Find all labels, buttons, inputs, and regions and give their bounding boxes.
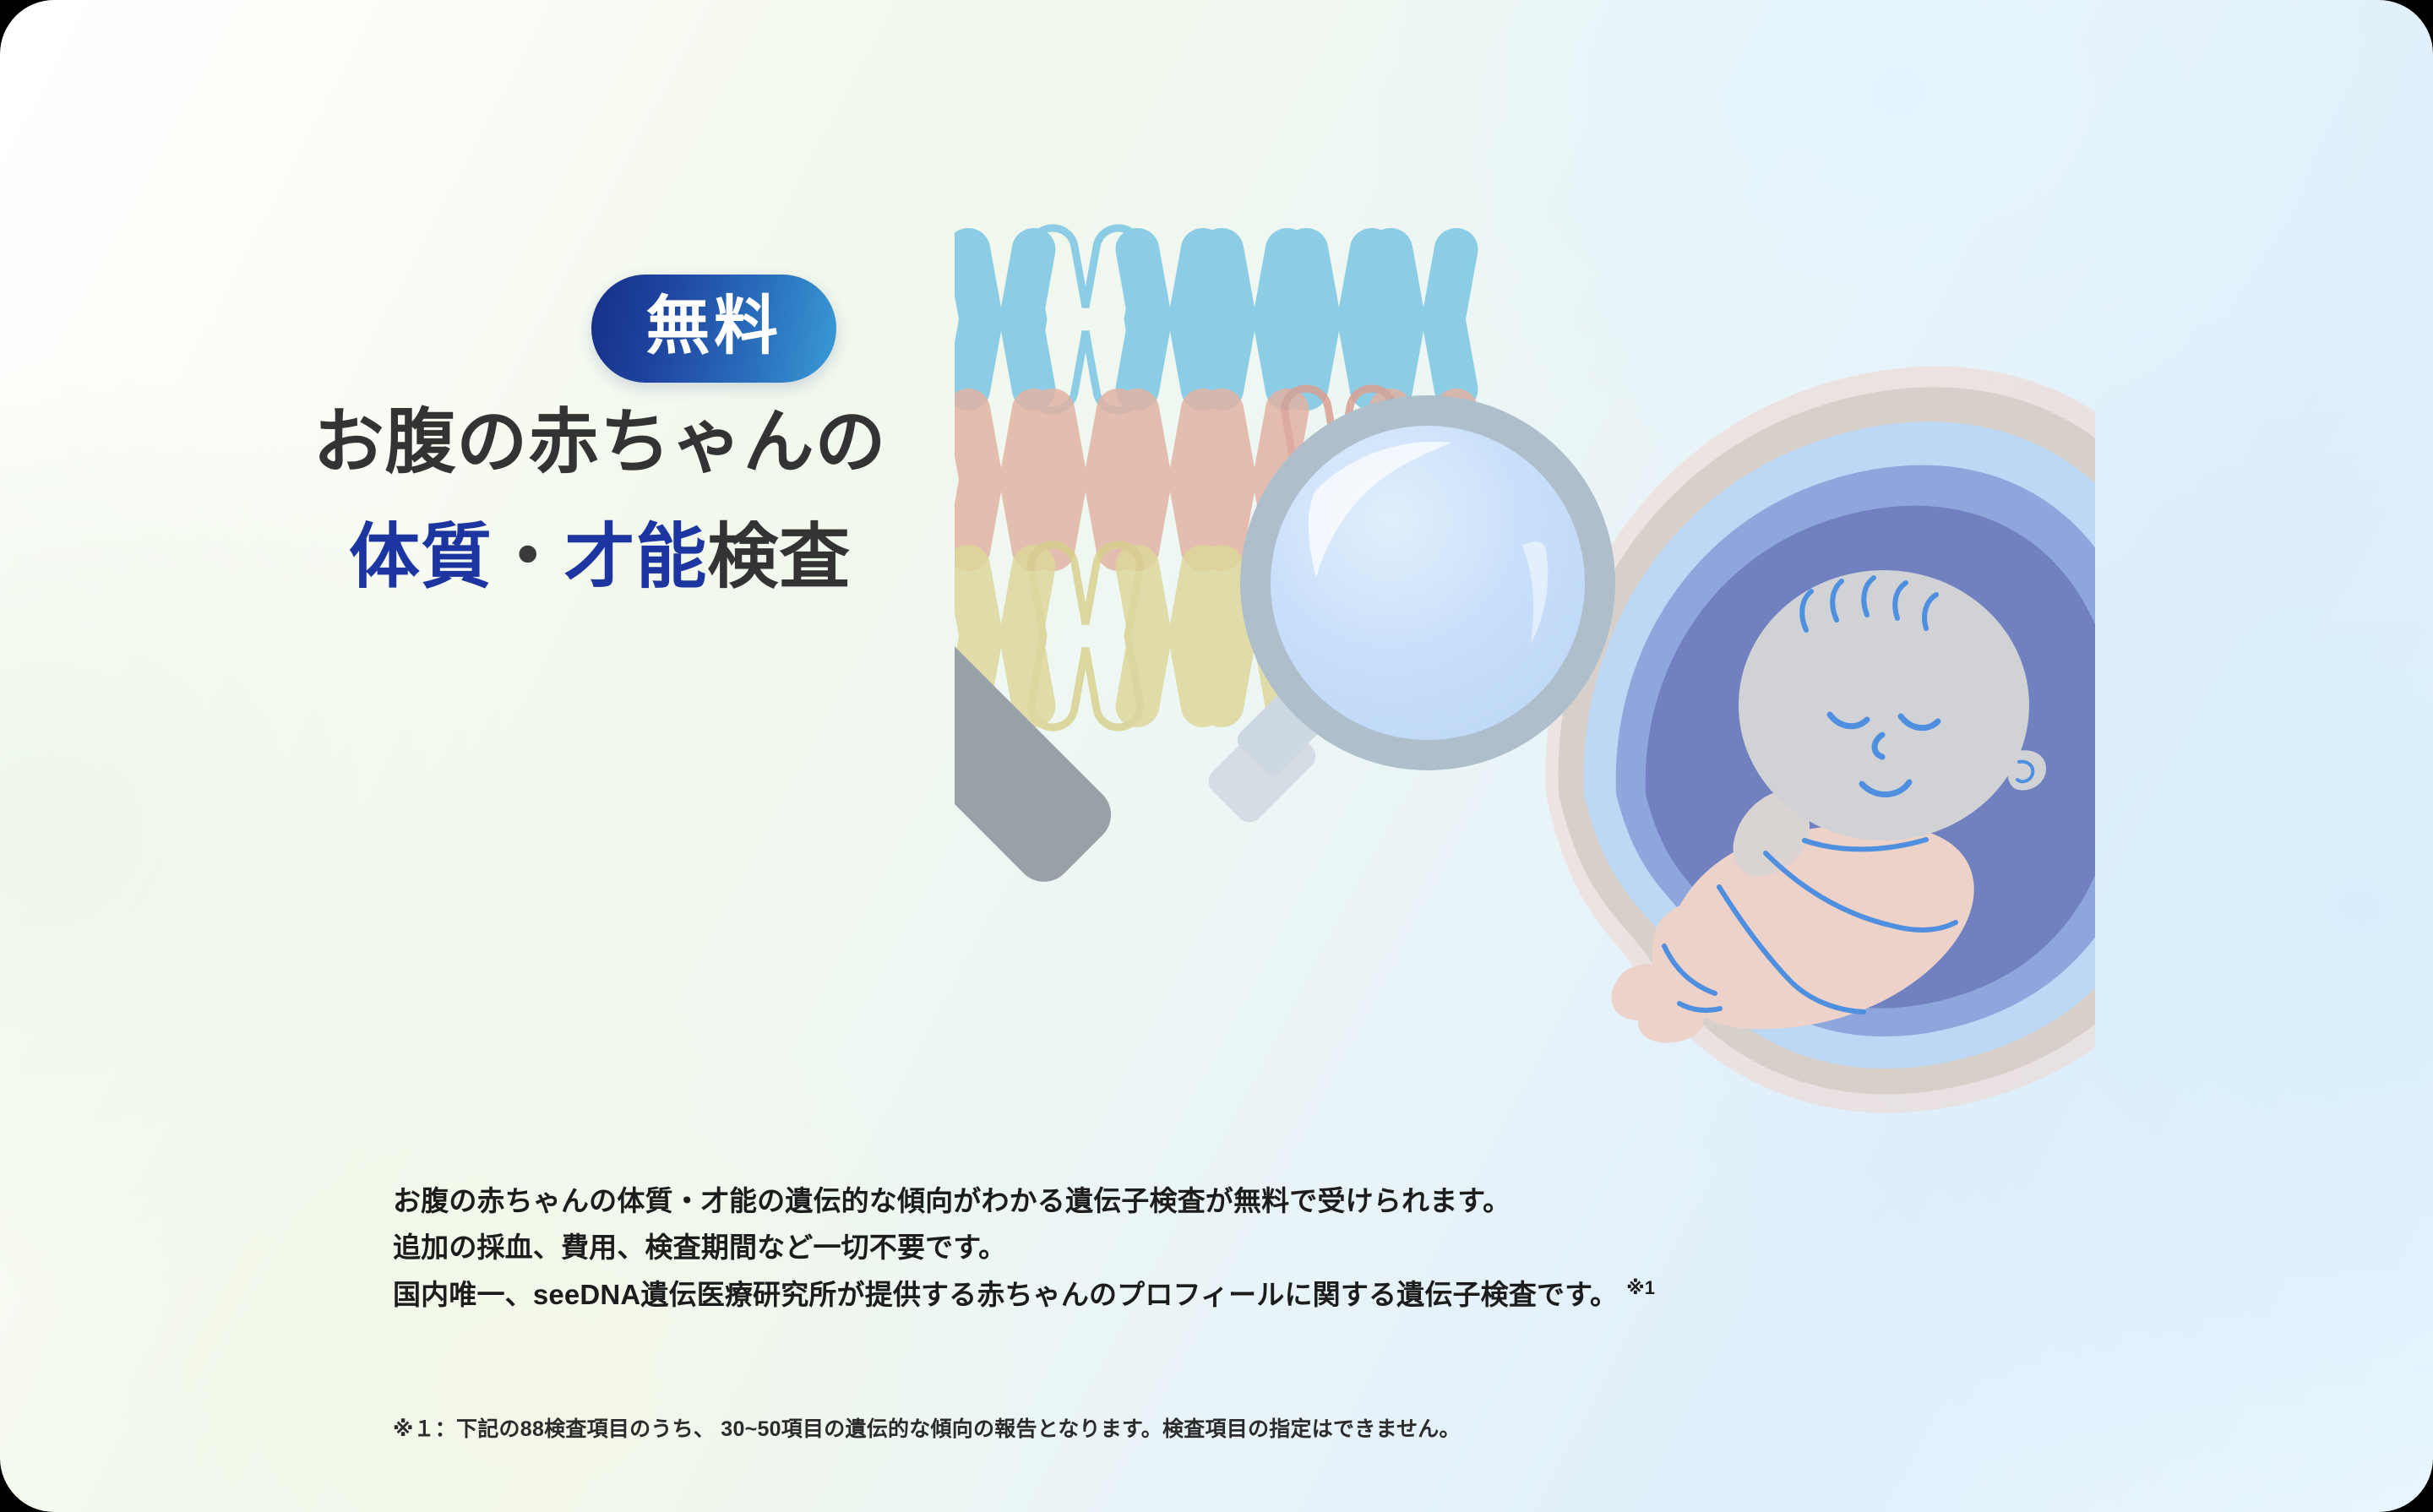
- description-block: お腹の赤ちゃんの体質・才能の遺伝的な傾向がわかる遺伝子検査が無料で受けられます。…: [393, 1178, 2167, 1318]
- free-badge: 無料: [591, 275, 836, 383]
- page-title-taishitsu: 体質: [349, 517, 493, 596]
- footnote-reference-marker: ※1: [1626, 1277, 1655, 1298]
- page-title-kensa: 検査: [707, 517, 851, 596]
- description-line-2: 追加の採血、費用、検査期間など一切不要です。: [393, 1224, 2167, 1270]
- description-line-3-wrap: 国内唯一、seeDNA遺伝医療研究所が提供する赤ちゃんのプロフィールに関する遺伝…: [393, 1271, 2167, 1318]
- footnote-text: ※１：下記の88検査項目のうち、 30~50項目の遺伝的な傾向の報告となります。…: [393, 1412, 2167, 1443]
- description-line-3: 国内唯一、seeDNA遺伝医療研究所が提供する赤ちゃんのプロフィールに関する遺伝…: [393, 1279, 1618, 1310]
- chromosome-row-blue: [955, 228, 1478, 411]
- page-title-separator: ・: [493, 517, 564, 596]
- page-title-line1-text: お腹の赤ちゃんの: [313, 402, 887, 481]
- page-title-sainou: 才能: [564, 517, 708, 596]
- description-line-1: お腹の赤ちゃんの体質・才能の遺伝的な傾向がわかる遺伝子検査が無料で受けられます。: [393, 1178, 2167, 1224]
- fetus-illustration: [955, 211, 2095, 1123]
- free-badge-label: 無料: [645, 295, 781, 359]
- hero-card: 無料 お腹の赤ちゃんの 体質・才能検査: [0, 0, 2433, 1512]
